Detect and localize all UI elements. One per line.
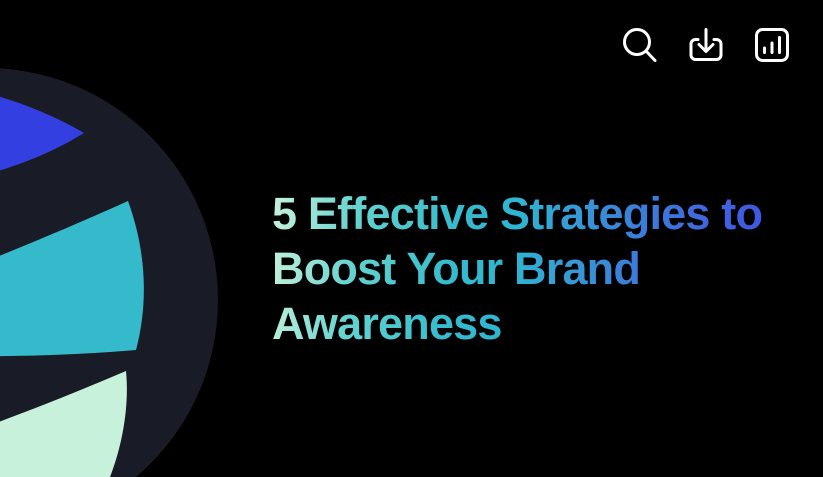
search-button[interactable]: [617, 22, 663, 68]
brand-logo-mark-svg: [0, 0, 260, 477]
download-button[interactable]: [683, 22, 729, 68]
page-title: 5 Effective Strategies to Boost Your Bra…: [272, 186, 817, 351]
brand-logo-mark: [0, 0, 260, 477]
hero-card: 5 Effective Strategies to Boost Your Bra…: [0, 0, 823, 477]
analytics-button[interactable]: [749, 22, 795, 68]
search-icon: [621, 26, 659, 64]
petal-mint: [0, 371, 127, 477]
bar-chart-icon: [753, 26, 791, 64]
petal-blue: [0, 74, 84, 192]
logo-disc: [0, 68, 218, 477]
headline-block: 5 Effective Strategies to Boost Your Bra…: [272, 186, 817, 351]
petal-teal: [0, 201, 144, 356]
toolbar: [617, 22, 795, 68]
download-icon: [687, 26, 725, 64]
